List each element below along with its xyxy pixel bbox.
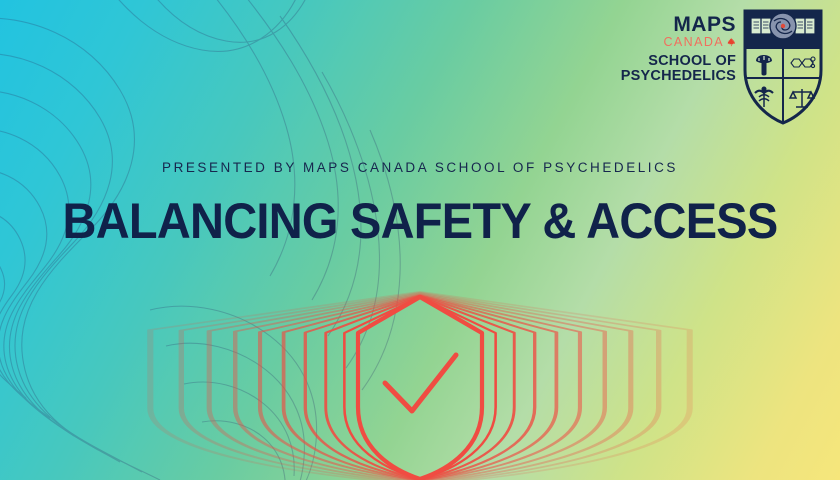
presented-by-kicker: PRESENTED BY MAPS CANADA SCHOOL OF PSYCH…	[0, 160, 840, 175]
brand-logo-wordmark: MAPS CANADA SCHOOL OF PSYCHEDELICS	[621, 8, 736, 84]
headline-block: PRESENTED BY MAPS CANADA SCHOOL OF PSYCH…	[0, 160, 840, 250]
logo-maps-text: MAPS	[621, 14, 736, 35]
shield-check-graphic	[140, 288, 700, 480]
logo-canada-text: CANADA	[664, 36, 725, 49]
logo-canada-row: CANADA	[621, 36, 736, 49]
page-title: BALANCING SAFETY & ACCESS	[25, 192, 815, 250]
maple-leaf-icon	[726, 37, 736, 47]
slide-canvas: MAPS CANADA SCHOOL OF PSYCHEDELICS	[0, 0, 840, 480]
logo-school-line2: PSYCHEDELICS	[621, 69, 736, 84]
brand-logo[interactable]: MAPS CANADA SCHOOL OF PSYCHEDELICS	[621, 8, 824, 126]
shield-crest-icon	[742, 8, 824, 126]
logo-school-line1: SCHOOL OF	[621, 54, 736, 69]
